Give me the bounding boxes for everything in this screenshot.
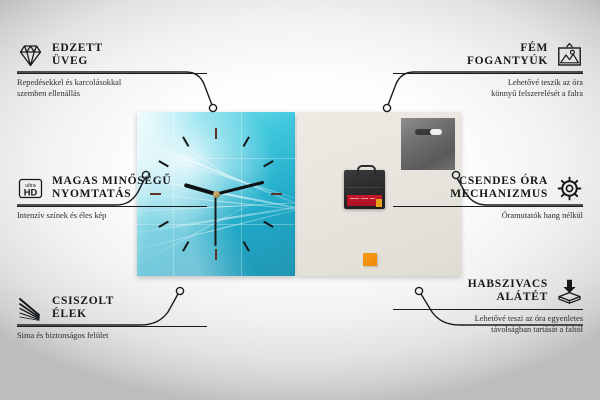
feature-title: FÉM FOGANTYÚK [467, 42, 548, 68]
feature-description: Repedésekkel és karcolásokkal szemben el… [17, 78, 207, 99]
infographic-canvas: EDZETT ÜVEG Repedésekkel és karcolásokka… [0, 0, 600, 400]
ultra-hd-icon: ultra HD [17, 175, 44, 202]
gear-icon [556, 175, 583, 202]
feature-title: CSENDES ÓRA MECHANIZMUS [450, 175, 548, 201]
feature-title: CSISZOLT ÉLEK [52, 295, 114, 321]
feature-rule [17, 206, 207, 207]
feature-rule [393, 309, 583, 310]
feature-rule [393, 206, 583, 207]
feature-title: EDZETT ÜVEG [52, 42, 103, 68]
feature-description: Sima és biztonságos felület [17, 331, 207, 342]
feature-silent-mechanism: CSENDES ÓRA MECHANIZMUS Óramutatók hang … [393, 173, 583, 222]
feature-rule [393, 73, 583, 74]
feature-rule [17, 73, 207, 74]
hanger-slot [415, 129, 442, 135]
feature-high-quality-print: ultra HD MAGAS MINŐSÉGŰ NYOMTATÁS Intenz… [17, 173, 207, 222]
foam-pad-icon [556, 278, 583, 305]
movement-battery-marker [376, 199, 382, 207]
feature-polished-edges: CSISZOLT ÉLEK Sima és biztonságos felüle… [17, 293, 207, 342]
clock-center-cap [213, 191, 220, 198]
clock-movement [344, 170, 385, 209]
feature-description: Óramutatók hang nélkül [393, 211, 583, 222]
metal-hanger [401, 118, 455, 170]
polished-edges-icon [17, 295, 44, 322]
feature-foam-pad: HABSZIVACS ALÁTÉT Lehetővé teszi az óra … [393, 276, 583, 335]
feature-title: MAGAS MINŐSÉGŰ NYOMTATÁS [52, 175, 171, 201]
movement-seam [346, 187, 383, 188]
feature-tempered-glass: EDZETT ÜVEG Repedésekkel és karcolásokka… [17, 40, 207, 99]
feature-rule [17, 326, 207, 327]
picture-hanger-icon [556, 42, 583, 69]
clock-minute-hand [216, 181, 264, 196]
feature-title: HABSZIVACS ALÁTÉT [468, 278, 548, 304]
feature-metal-handles: FÉM FOGANTYÚK Lehetővé teszik az óra kön… [393, 40, 583, 99]
svg-text:HD: HD [24, 186, 38, 197]
foam-pad [363, 253, 377, 266]
feature-description: Intenzív színek és éles kép [17, 211, 207, 222]
diamond-icon [17, 42, 44, 69]
feature-description: Lehetővé teszi az óra egyenletes távolsá… [393, 314, 583, 335]
feature-description: Lehetővé teszik az óra könnyű felszerelé… [393, 78, 583, 99]
clock-second-hand [215, 194, 217, 246]
movement-hook [357, 165, 376, 175]
